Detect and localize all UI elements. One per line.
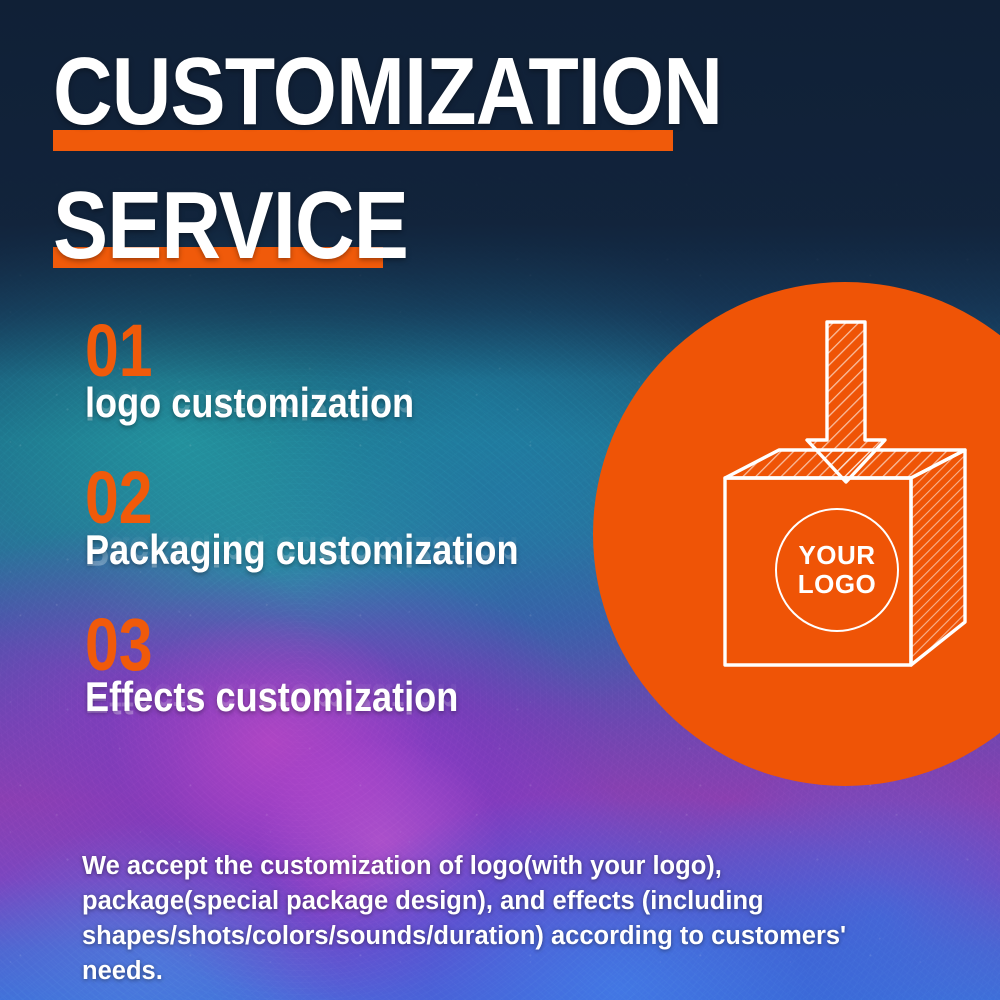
logo-placeholder-line-one: YOUR [798, 541, 875, 570]
service-heading-03: Effects customization [85, 676, 567, 719]
service-heading-01: logo customization [85, 382, 567, 425]
your-logo-placeholder: YOUR LOGO [775, 508, 899, 632]
box-right-face [911, 450, 965, 665]
service-item-02: 02 Packaging customization Packaging cus… [85, 467, 645, 572]
service-heading-wrap-02: Packaging customization Packaging custom… [85, 529, 645, 572]
title-line-two: SERVICE [53, 181, 773, 267]
service-list: 01 logo customization logo customization… [85, 320, 645, 741]
service-heading-wrap-01: logo customization logo customization [85, 382, 645, 425]
service-heading-wrap-03: Effects customization Effects customizat… [85, 676, 645, 719]
title-text-customization: CUSTOMIZATION [53, 47, 672, 136]
body-paragraph: We accept the customization of logo(with… [82, 849, 852, 990]
title-text-service: SERVICE [53, 181, 672, 270]
service-number-02: 02 [85, 467, 544, 529]
title-line-one: CUSTOMIZATION [53, 47, 773, 151]
banner-title: CUSTOMIZATION SERVICE [53, 47, 773, 268]
service-number-01: 01 [85, 320, 544, 382]
service-number-03: 03 [85, 614, 544, 676]
service-item-01: 01 logo customization logo customization [85, 320, 645, 425]
service-item-03: 03 Effects customization Effects customi… [85, 614, 645, 719]
service-heading-02: Packaging customization [85, 529, 567, 572]
customization-service-banner: CUSTOMIZATION SERVICE 01 logo customizat… [0, 0, 1000, 1000]
logo-placeholder-line-two: LOGO [798, 570, 877, 599]
